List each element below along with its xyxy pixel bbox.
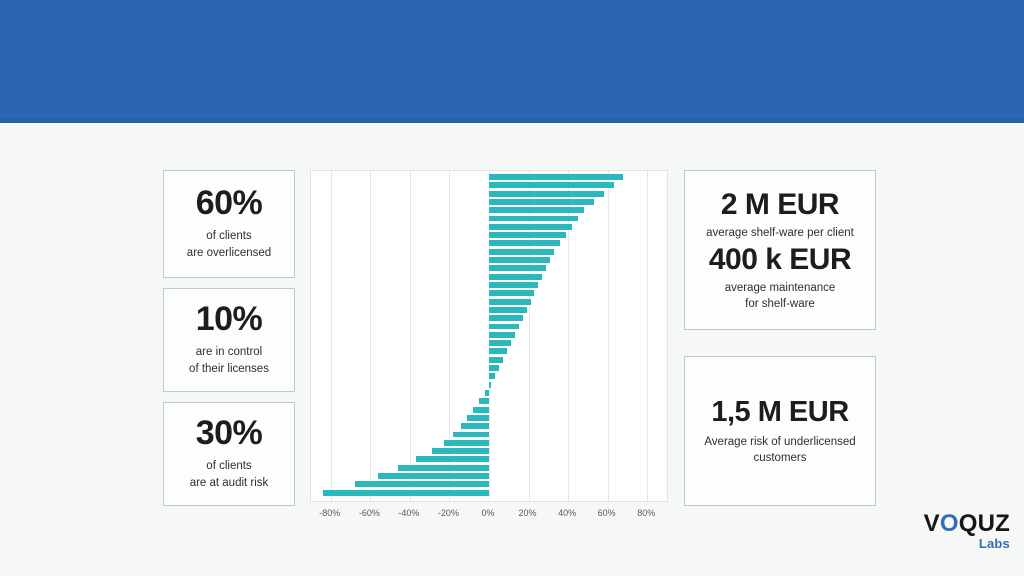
chart-bar [355,481,489,487]
slide-canvas: 60% of clients are overlicensed 10% are … [0,0,1024,576]
chart-tick-label: -40% [398,508,419,518]
chart-tick-label: 40% [558,508,576,518]
chart-bar [489,265,546,271]
chart-bar [489,257,550,263]
chart-tick-label: 20% [519,508,537,518]
chart-bar [432,448,489,454]
chart-bar [485,390,489,396]
chart-tick-label: 80% [637,508,655,518]
chart-x-axis: -80%-60%-40%-20%0%20%40%60%80% [310,508,668,528]
chart-gridline [370,171,371,501]
chart-bar [398,465,489,471]
chart-bar [489,357,503,363]
chart-tick-label: 60% [598,508,616,518]
shelfware-value-secondary: 400 k EUR [709,243,851,277]
chart-bar [416,456,489,462]
logo-subtext-labs: Labs [914,537,1010,550]
chart-bar [479,398,489,404]
chart-bar [489,232,566,238]
chart-bar [489,249,554,255]
chart-bar [489,324,519,330]
stat-value-in-control: 10% [196,302,263,338]
chart-bar [489,216,578,222]
chart-bar [453,432,489,438]
chart-gridline [647,171,648,501]
stat-card-underlicensed-risk: 1,5 M EUR Average risk of underlicensed … [684,356,876,506]
chart-bar [489,332,515,338]
chart-gridline [331,171,332,501]
chart-bar [489,182,614,188]
chart-tick-label: -20% [438,508,459,518]
chart-bar [489,240,560,246]
stat-value-audit-risk: 30% [196,416,263,452]
chart-plot-area [311,171,667,501]
voquz-labs-logo: VOQUZ Labs [914,512,1010,556]
chart-bar [461,423,489,429]
chart-bar [489,191,604,197]
chart-tick-label: -60% [359,508,380,518]
chart-bar [489,274,542,280]
stat-caption-overlicensed: of clients are overlicensed [187,228,271,261]
chart-bar [489,340,511,346]
chart-bar [489,315,523,321]
chart-gridline [410,171,411,501]
logo-letter-v: V [924,510,940,537]
chart-bar [489,207,584,213]
chart-bar [489,174,623,180]
chart-bar [489,382,491,388]
logo-wordmark: VOQUZ [914,512,1010,536]
logo-letter-o: O [940,510,959,537]
shelfware-caption-primary: average shelf-ware per client [706,225,854,241]
header-blue-band [0,0,1024,122]
chart-bar [473,407,489,413]
chart-bar [489,290,534,296]
license-balance-bar-chart [310,170,668,502]
stat-card-audit-risk: 30% of clients are at audit risk [163,402,295,506]
chart-bar [378,473,489,479]
chart-tick-label: -80% [319,508,340,518]
chart-bar [489,365,499,371]
chart-tick-label: 0% [481,508,494,518]
chart-bar [489,299,531,305]
risk-caption: Average risk of underlicensed customers [704,434,855,466]
risk-value: 1,5 M EUR [711,396,848,428]
chart-bar [489,224,572,230]
chart-bar [489,199,594,205]
chart-gridline [608,171,609,501]
stat-card-overlicensed: 60% of clients are overlicensed [163,170,295,278]
chart-bar [489,373,495,379]
chart-bar [467,415,489,421]
shelfware-value-primary: 2 M EUR [721,188,839,222]
stat-caption-audit-risk: of clients are at audit risk [190,458,269,491]
stat-value-overlicensed: 60% [196,186,263,222]
stat-card-shelfware: 2 M EUR average shelf-ware per client 40… [684,170,876,330]
chart-bar [323,490,489,496]
chart-bar [489,307,527,313]
stat-caption-in-control: are in control of their licenses [189,344,269,377]
logo-letters-quz: QUZ [959,510,1010,537]
stat-card-in-control: 10% are in control of their licenses [163,288,295,392]
chart-bar [489,282,538,288]
header-divider-rule [0,118,1024,123]
chart-bar [444,440,489,446]
chart-bar [489,348,507,354]
shelfware-caption-secondary: average maintenance for shelf-ware [725,280,836,312]
